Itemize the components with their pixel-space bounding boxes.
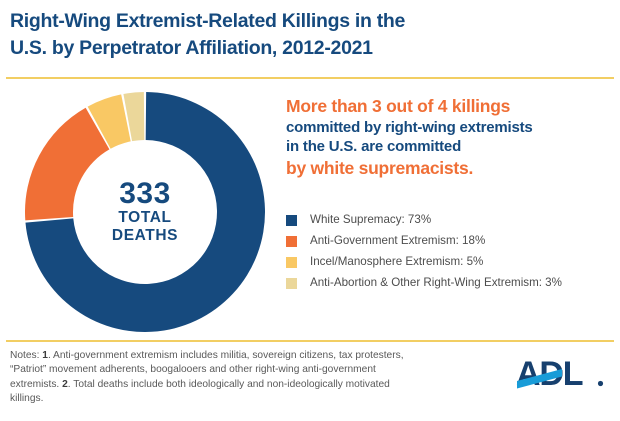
divider-top <box>6 77 614 79</box>
legend-label-3: Anti-Abortion & Other Right-Wing Extremi… <box>310 276 562 291</box>
legend-swatch-0 <box>286 215 297 226</box>
headline-line-1: More than 3 out of 4 killings <box>286 96 616 118</box>
notes-prefix: Notes: <box>10 350 42 361</box>
legend-label-0: White Supremacy: 73% <box>310 213 431 228</box>
title-line-2: U.S. by Perpetrator Affiliation, 2012-20… <box>10 35 530 62</box>
donut-chart: 333 TOTAL DEATHS <box>25 92 265 332</box>
headline-block: More than 3 out of 4 killings committed … <box>286 96 616 179</box>
legend-label-2: Incel/Manosphere Extremism: 5% <box>310 255 483 270</box>
legend-item-3: Anti-Abortion & Other Right-Wing Extremi… <box>286 276 616 291</box>
page-title: Right-Wing Extremist-Related Killings in… <box>10 8 530 62</box>
legend-swatch-2 <box>286 257 297 268</box>
legend-item-2: Incel/Manosphere Extremism: 5% <box>286 255 616 270</box>
legend-item-0: White Supremacy: 73% <box>286 213 616 228</box>
legend-label-1: Anti-Government Extremism: 18% <box>310 234 485 249</box>
headline-line-3: in the U.S. are committed <box>286 137 616 156</box>
donut-svg <box>25 92 265 332</box>
infographic-root: Right-Wing Extremist-Related Killings in… <box>0 0 620 421</box>
legend-item-1: Anti-Government Extremism: 18% <box>286 234 616 249</box>
adl-logo-svg: ADL ADL <box>516 355 610 395</box>
adl-logo: ADL ADL <box>516 355 610 395</box>
note-text-2: . Total deaths include both ideologicall… <box>10 379 390 404</box>
divider-bottom <box>6 340 614 342</box>
donut-slice-1 <box>25 108 109 221</box>
title-line-1: Right-Wing Extremist-Related Killings in… <box>10 8 530 35</box>
adl-logo-registered-mark <box>598 381 603 386</box>
chart-legend: White Supremacy: 73%Anti-Government Extr… <box>286 213 616 297</box>
footnotes: Notes: 1. Anti-government extremism incl… <box>10 349 410 407</box>
headline-line-2: committed by right-wing extremists <box>286 118 616 137</box>
headline-line-4: by white supremacists. <box>286 156 616 180</box>
legend-swatch-1 <box>286 236 297 247</box>
legend-swatch-3 <box>286 278 297 289</box>
